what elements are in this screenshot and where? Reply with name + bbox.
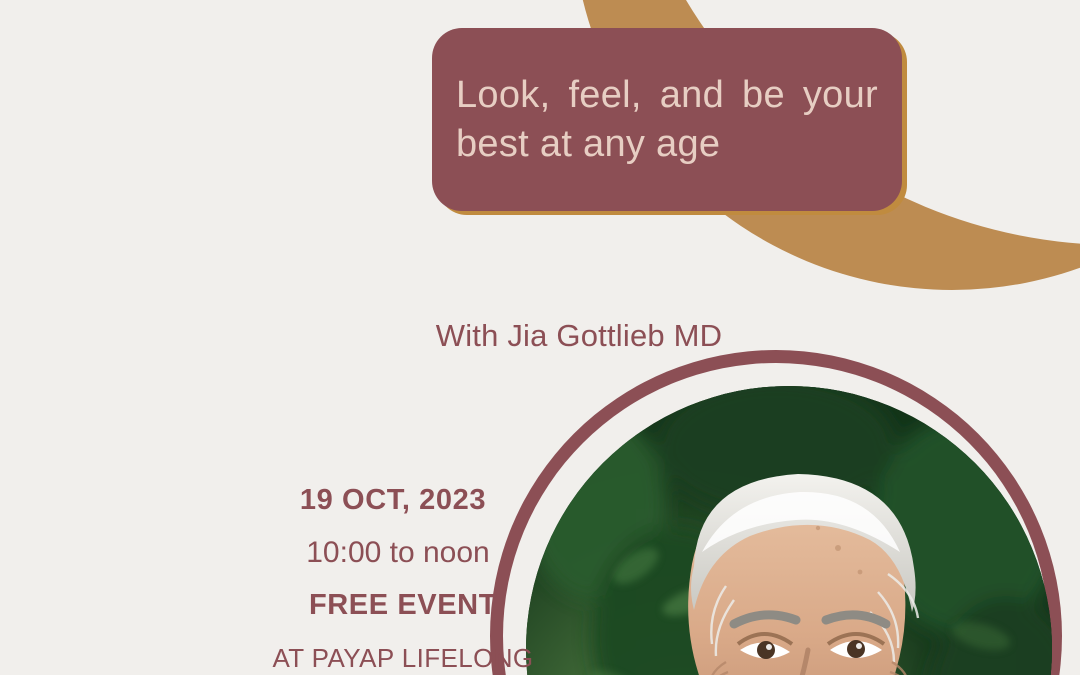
event-poster: Look, feel, and be your best at any age …: [0, 0, 1080, 675]
headline-text: Look, feel, and be your best at any age: [456, 71, 878, 168]
event-date: 19 OCT, 2023: [248, 483, 538, 518]
headline-plaque: Look, feel, and be your best at any age: [432, 28, 902, 211]
portrait-illustration: [526, 386, 1052, 675]
headline-plaque-body: Look, feel, and be your best at any age: [432, 28, 902, 211]
portrait-ring-gap: [503, 363, 1049, 675]
event-venue: AT PAYAP LIFELONG: [258, 643, 548, 674]
portrait-photo: [526, 386, 1052, 675]
portrait-ring: [490, 350, 1062, 675]
presenter-name: With Jia Gottlieb MD: [436, 318, 723, 354]
event-time: 10:00 to noon: [253, 535, 543, 571]
presenter-line: With Jia Gottlieb MD: [0, 318, 1080, 354]
event-details: 19 OCT, 2023 10:00 to noon FREE EVENT AT…: [205, 483, 495, 674]
event-price: FREE EVENT: [258, 588, 548, 623]
